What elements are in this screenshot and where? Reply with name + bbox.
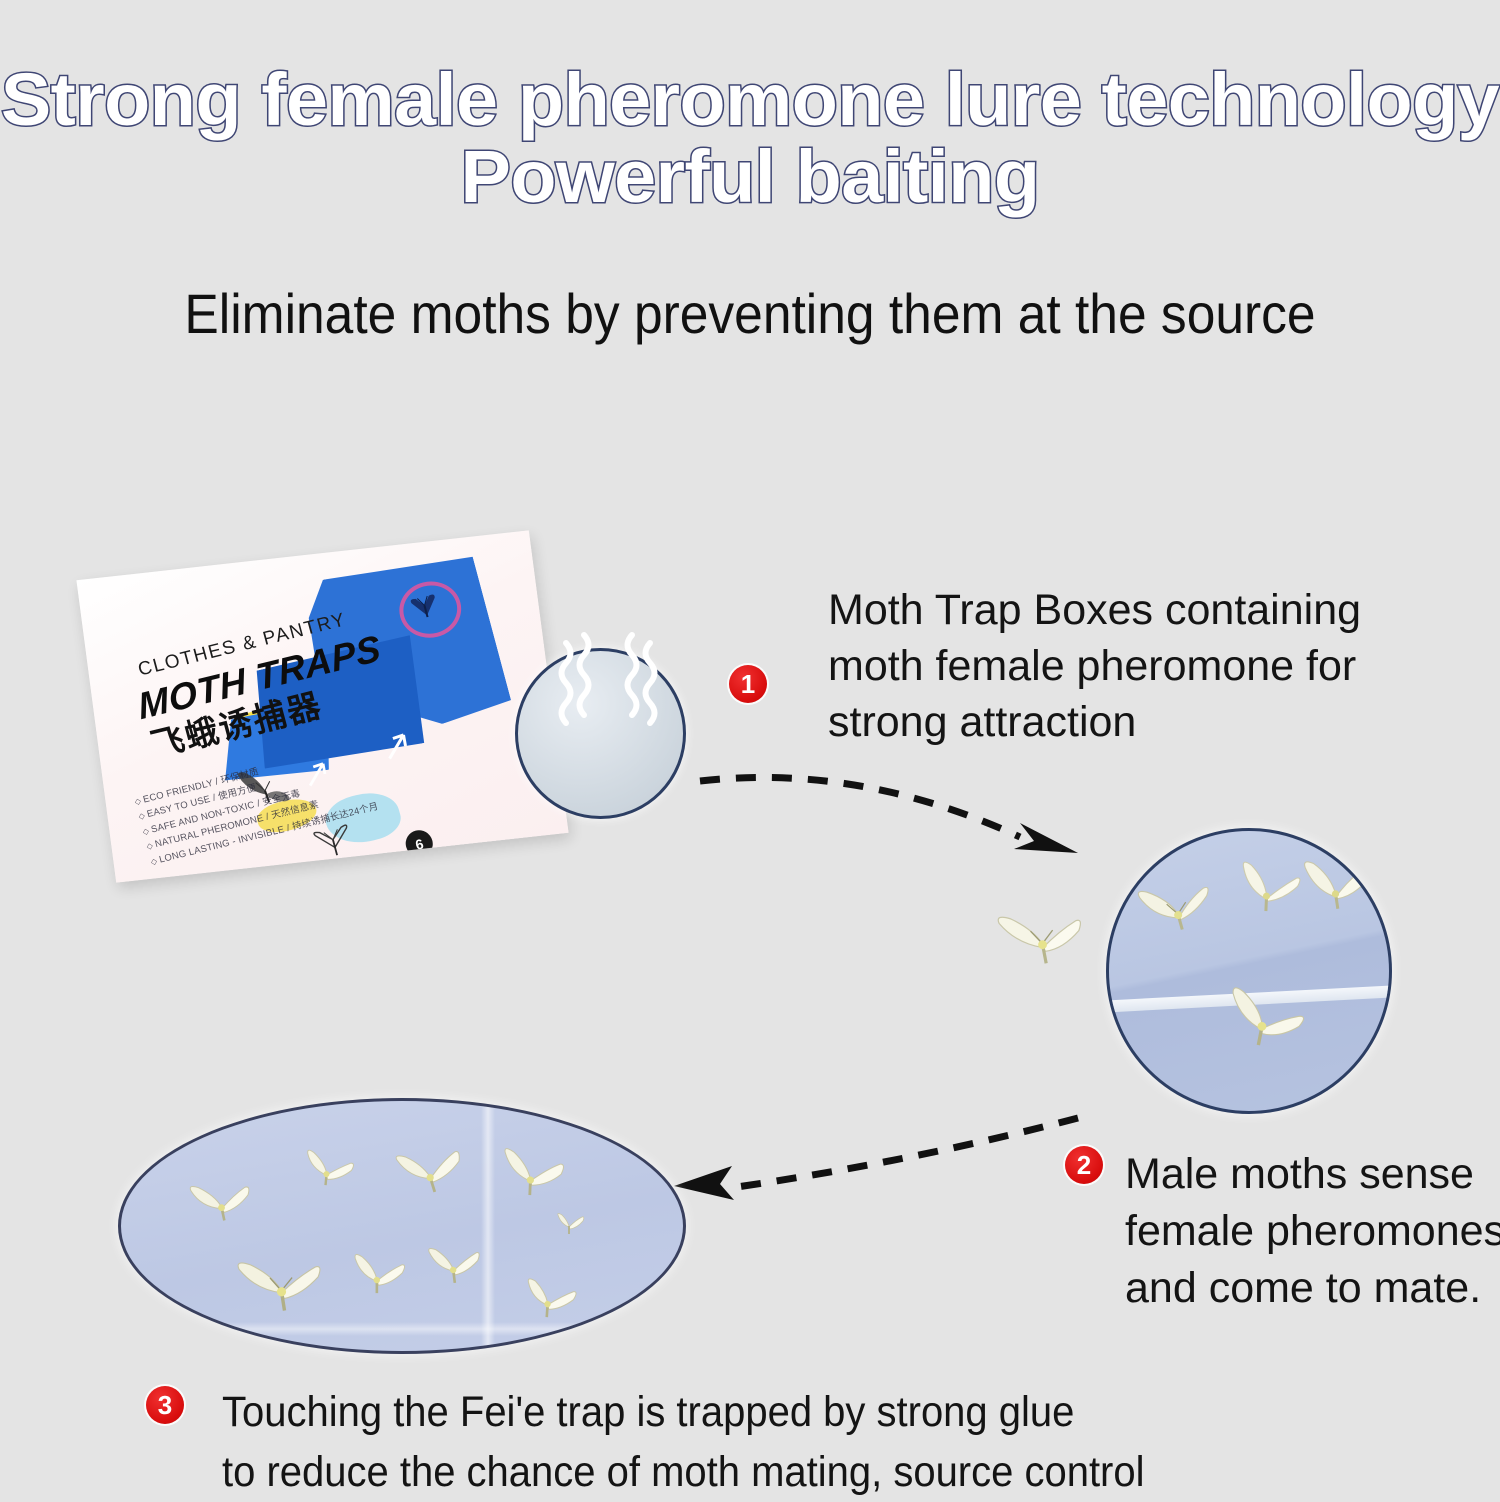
- step-badge-3: 3: [146, 1386, 184, 1424]
- moth-illustration: [988, 898, 1092, 984]
- step-2-line: and come to mate.: [1125, 1260, 1500, 1317]
- step-1-text: Moth Trap Boxes containing moth female p…: [828, 583, 1468, 751]
- step-2-text: Male moths sense female pheromones and c…: [1125, 1146, 1500, 1316]
- moths-attracted-circle: [1106, 828, 1392, 1114]
- pheromone-wave-icon: [508, 629, 698, 749]
- moth-illustration: [421, 1239, 483, 1295]
- page-subtitle: Eliminate moths by preventing them at th…: [60, 281, 1440, 346]
- step-3-line: to reduce the chance of moth mating, sou…: [222, 1442, 1264, 1502]
- step-1-line: strong attraction: [828, 695, 1468, 751]
- moth-illustration: [345, 1247, 407, 1307]
- infographic-page: Strong female pheromone lure technology …: [0, 0, 1500, 1500]
- step-2-line: female pheromones: [1125, 1203, 1500, 1260]
- step-2-line: Male moths sense: [1125, 1146, 1500, 1203]
- page-title: Strong female pheromone lure technology …: [0, 62, 1500, 216]
- package-front-panel: CLOTHES & PANTRY MOTH TRAPS 飞蛾诱捕器 ECO FR…: [76, 530, 568, 882]
- step-1-line: moth female pheromone for: [828, 639, 1468, 695]
- arrow-step2-to-step3: [660, 1110, 1090, 1260]
- title-line-2: Powerful baiting: [0, 139, 1500, 216]
- glue-sheen-bottom: [121, 1322, 683, 1336]
- package-quantity-badge: 6: [403, 827, 436, 860]
- moth-illustration: [297, 1145, 355, 1197]
- step-1-line: Moth Trap Boxes containing: [828, 583, 1468, 639]
- moth-illustration: [1213, 979, 1309, 1065]
- arrow-step1-to-step2: [690, 755, 1110, 885]
- moth-illustration: [493, 1141, 567, 1207]
- step-3-line: Touching the Fei'e trap is trapped by st…: [222, 1382, 1264, 1442]
- moth-illustration: [1131, 873, 1215, 947]
- step-3-text: Touching the Fei'e trap is trapped by st…: [222, 1382, 1264, 1502]
- title-line-1: Strong female pheromone lure technology: [1, 58, 1499, 141]
- step-badge-2: 2: [1065, 1146, 1103, 1184]
- moth-illustration: [183, 1173, 255, 1235]
- moth-illustration: [553, 1209, 585, 1239]
- moth-illustration: [517, 1273, 577, 1329]
- step-badge-1: 1: [729, 665, 767, 703]
- moth-illustration: [389, 1139, 467, 1207]
- moth-illustration: [229, 1245, 329, 1329]
- pheromone-magnifier: [515, 648, 686, 819]
- trapped-moths-glueboard: [118, 1098, 686, 1354]
- moth-illustration: [1291, 849, 1377, 927]
- glue-sheen: [481, 1101, 495, 1351]
